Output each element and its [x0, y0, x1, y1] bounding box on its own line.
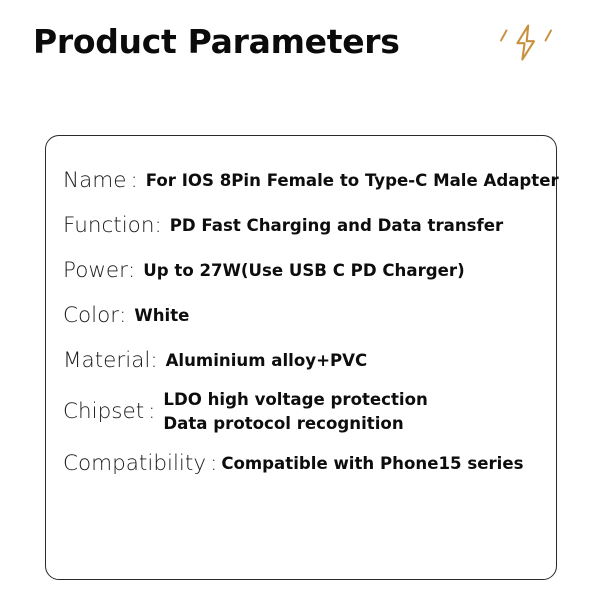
product-parameters-card: Name : For IOS 8Pin Female to Type-C Mal… [45, 135, 557, 580]
bolt-glyph-icon [517, 26, 534, 60]
spec-colon-power: : [128, 258, 135, 284]
spec-label-chipset: Chipset [63, 399, 144, 425]
spec-row-chipset: Chipset : LDO high voltage protection Da… [63, 383, 552, 441]
page-header: Product Parameters [0, 0, 600, 110]
spec-colon-material: : [150, 348, 157, 374]
spec-row-function: Function : PD Fast Charging and Data tra… [63, 203, 552, 248]
spec-colon-name: : [130, 168, 137, 194]
spec-list: Name : For IOS 8Pin Female to Type-C Mal… [63, 158, 552, 486]
spec-row-color: Color : White [63, 293, 552, 338]
spec-colon-function: : [154, 213, 161, 239]
spec-colon-color: : [119, 303, 126, 329]
spec-row-material: Material : Aluminium alloy+PVC [63, 338, 552, 383]
spec-row-name: Name : For IOS 8Pin Female to Type-C Mal… [63, 158, 552, 203]
spec-label-function: Function [63, 213, 154, 239]
spec-label-color: Color [63, 303, 119, 329]
spec-value-color: White [134, 305, 189, 327]
lightning-bolt-badge [495, 20, 557, 66]
spec-value-power: Up to 27W(Use USB C PD Charger) [143, 260, 464, 282]
spec-value-chipset-line-2: Data protocol recognition [163, 413, 427, 435]
spec-label-compatibility: Compatibility [63, 451, 206, 477]
spec-label-material: Material [63, 348, 150, 374]
spec-colon-compatibility: : [210, 451, 217, 477]
spec-value-chipset-line-1: LDO high voltage protection [163, 389, 427, 411]
spec-value-chipset: LDO high voltage protection Data protoco… [163, 389, 427, 435]
spec-label-name: Name [63, 168, 126, 194]
spec-row-power: Power : Up to 27W(Use USB C PD Charger) [63, 248, 552, 293]
bolt-spark-right-icon [546, 31, 552, 41]
bolt-spark-left-icon [501, 31, 507, 41]
spec-value-compatibility: Compatible with Phone15 series [221, 453, 523, 475]
spec-label-power: Power [63, 258, 128, 284]
spec-colon-chipset: : [148, 399, 155, 425]
spec-value-name: For IOS 8Pin Female to Type-C Male Adapt… [146, 170, 559, 192]
page-title: Product Parameters [33, 21, 400, 63]
spec-value-function: PD Fast Charging and Data transfer [170, 215, 503, 237]
spec-row-compatibility: Compatibility : Compatible with Phone15 … [63, 441, 552, 486]
lightning-bolt-icon [495, 20, 557, 66]
spec-value-material: Aluminium alloy+PVC [166, 350, 368, 372]
